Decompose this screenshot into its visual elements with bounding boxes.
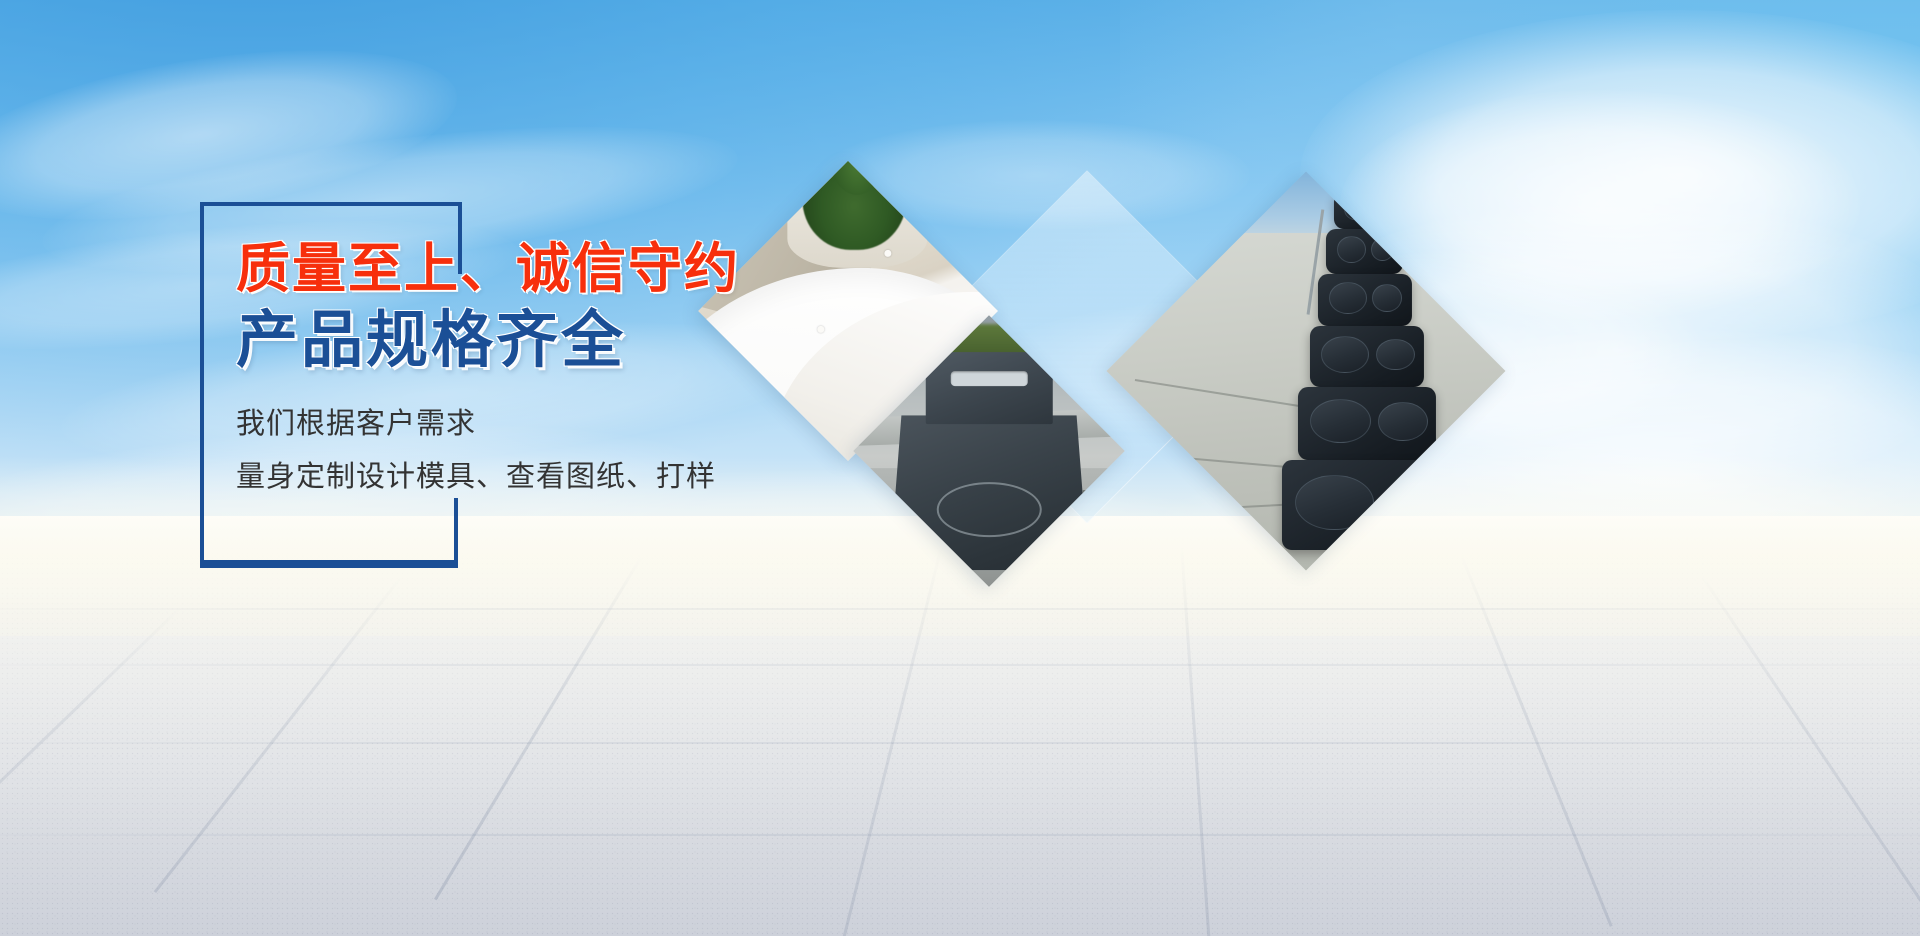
pavement-texture: [0, 516, 1920, 936]
banner-subtitle: 我们根据客户需求 量身定制设计模具、查看图纸、打样: [236, 401, 996, 501]
text-frame-border-right-stub: [454, 498, 458, 568]
subtitle-line-1: 我们根据客户需求: [236, 401, 996, 448]
promo-banner: 质量至上、诚信守约 产品规格齐全 我们根据客户需求 量身定制设计模具、查看图纸、…: [0, 0, 1920, 936]
headline-primary-red: 质量至上、诚信守约: [236, 240, 996, 298]
subtitle-line-2: 量身定制设计模具、查看图纸、打样: [236, 454, 996, 501]
headline-secondary-blue: 产品规格齐全: [236, 308, 996, 375]
text-frame-border-bottom: [200, 564, 458, 568]
banner-text-block: 质量至上、诚信守约 产品规格齐全 我们根据客户需求 量身定制设计模具、查看图纸、…: [236, 240, 996, 501]
